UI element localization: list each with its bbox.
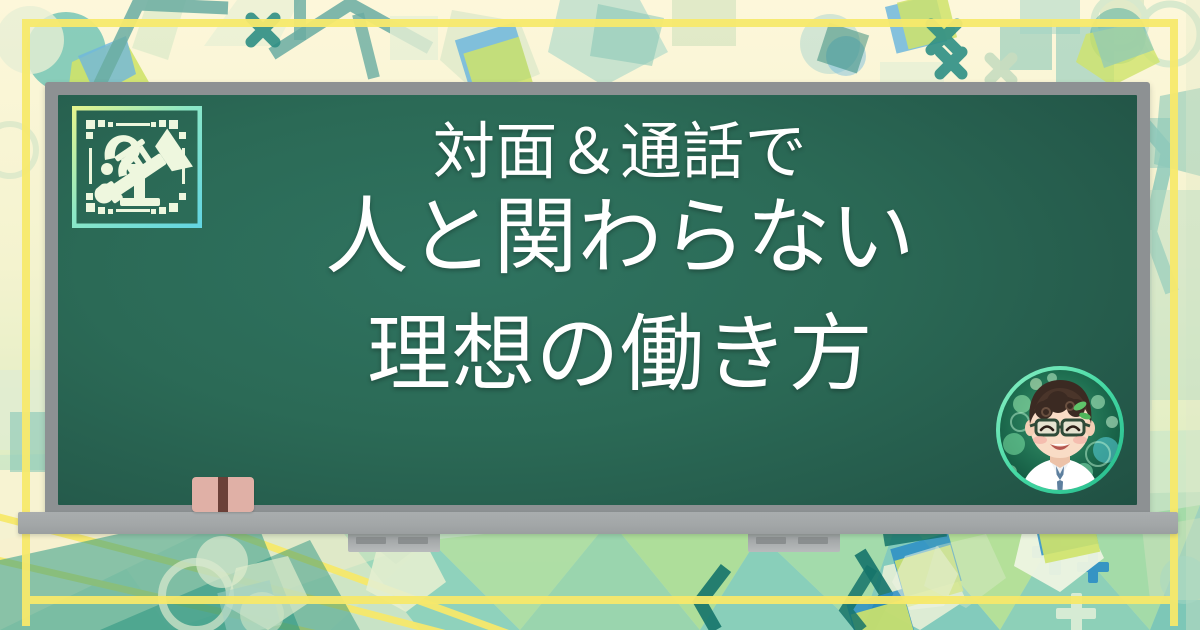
banner-canvas: 対面＆通話で 人と関わらない 理想の働き方 — [0, 0, 1200, 630]
tray-mount-left — [348, 534, 440, 552]
headline-line-3: 理想の働き方 — [367, 306, 873, 405]
question-trumpet-emblem — [72, 106, 202, 228]
author-avatar — [992, 362, 1128, 498]
chalkboard-eraser — [192, 477, 254, 512]
headline-block: 対面＆通話で 人と関わらない 理想の働き方 — [250, 120, 990, 490]
headline-line-2: 人と関わらない — [325, 189, 915, 288]
tray-mount-right — [748, 534, 840, 552]
chalk-tray — [18, 512, 1178, 534]
headline-line-1: 対面＆通話で — [433, 120, 807, 187]
